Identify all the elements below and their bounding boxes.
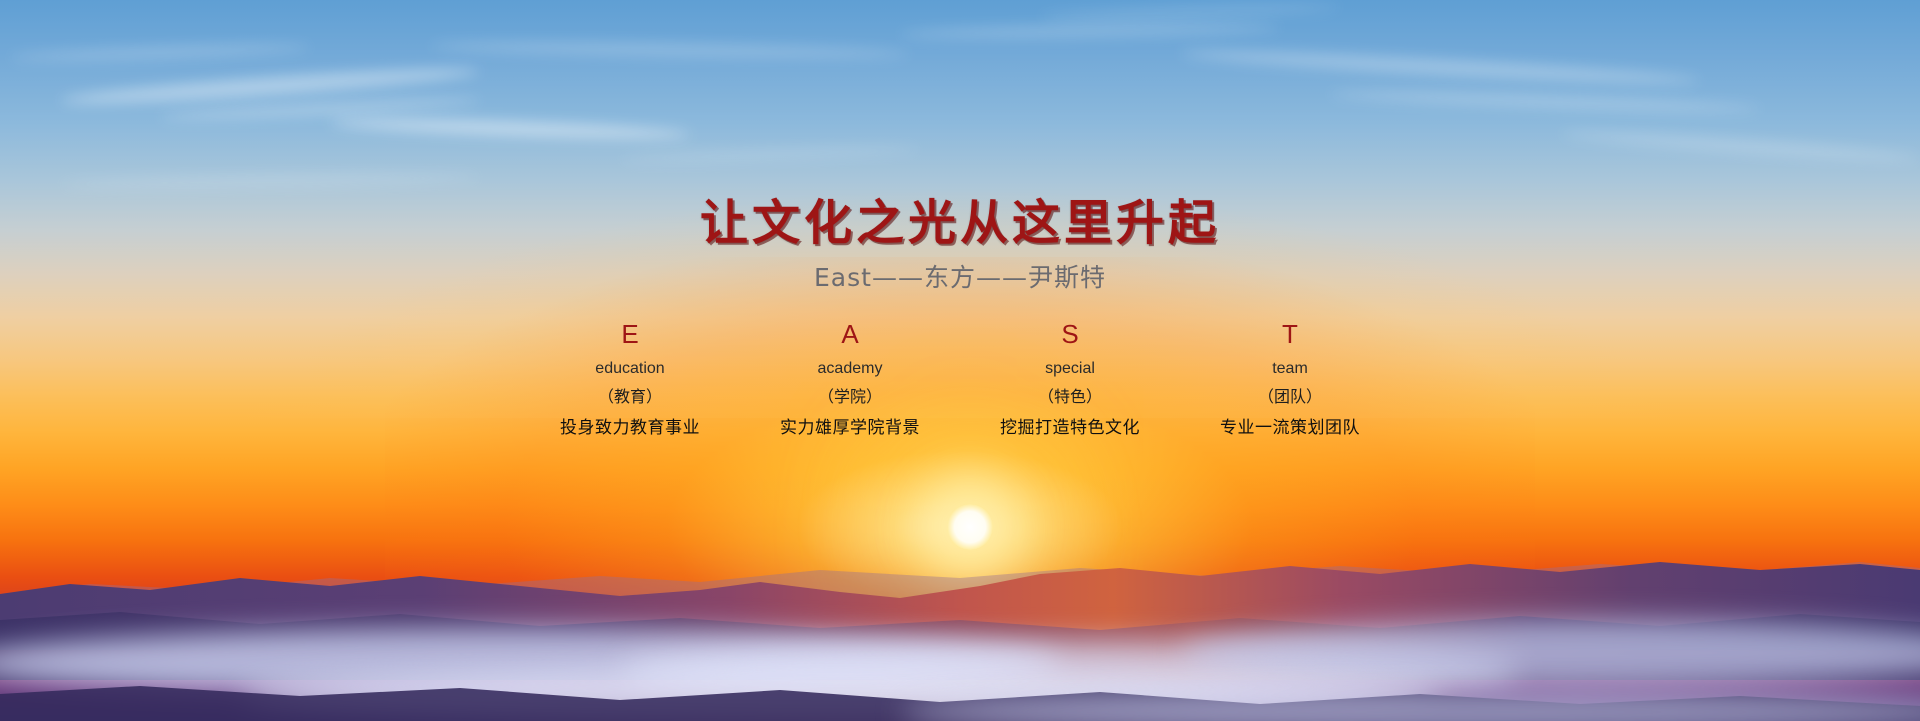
- feature-letter: E: [520, 320, 740, 349]
- feature-list: E education （教育） 投身致力教育事业 A academy （学院）…: [520, 320, 1400, 437]
- feature-letter: S: [960, 320, 1180, 349]
- feature-chinese: （学院）: [740, 388, 960, 406]
- feature-item-special[interactable]: S special （特色） 挖掘打造特色文化: [960, 320, 1180, 437]
- feature-item-education[interactable]: E education （教育） 投身致力教育事业: [520, 320, 740, 437]
- feature-english: special: [960, 360, 1180, 378]
- feature-letter: T: [1180, 320, 1400, 349]
- feature-english: team: [1180, 360, 1400, 378]
- feature-chinese: （特色）: [960, 388, 1180, 406]
- feature-item-team[interactable]: T team （团队） 专业一流策划团队: [1180, 320, 1400, 437]
- feature-item-academy[interactable]: A academy （学院） 实力雄厚学院背景: [740, 320, 960, 437]
- feature-chinese: （团队）: [1180, 388, 1400, 406]
- page-title: 让文化之光从这里升起: [0, 183, 1920, 253]
- hero-banner: 让文化之光从这里升起 East——东方——尹斯特 E education （教育…: [0, 0, 1920, 721]
- feature-description: 实力雄厚学院背景: [740, 419, 960, 438]
- feature-english: academy: [740, 360, 960, 378]
- feature-letter: A: [740, 320, 960, 349]
- feature-description: 挖掘打造特色文化: [960, 419, 1180, 438]
- feature-description: 专业一流策划团队: [1180, 419, 1400, 438]
- feature-english: education: [520, 360, 740, 378]
- feature-chinese: （教育）: [520, 388, 740, 406]
- banner-subtitle: East——东方——尹斯特: [0, 258, 1920, 294]
- feature-description: 投身致力教育事业: [520, 419, 740, 438]
- banner-text-overlay: 让文化之光从这里升起 East——东方——尹斯特 E education （教育…: [0, 0, 1920, 721]
